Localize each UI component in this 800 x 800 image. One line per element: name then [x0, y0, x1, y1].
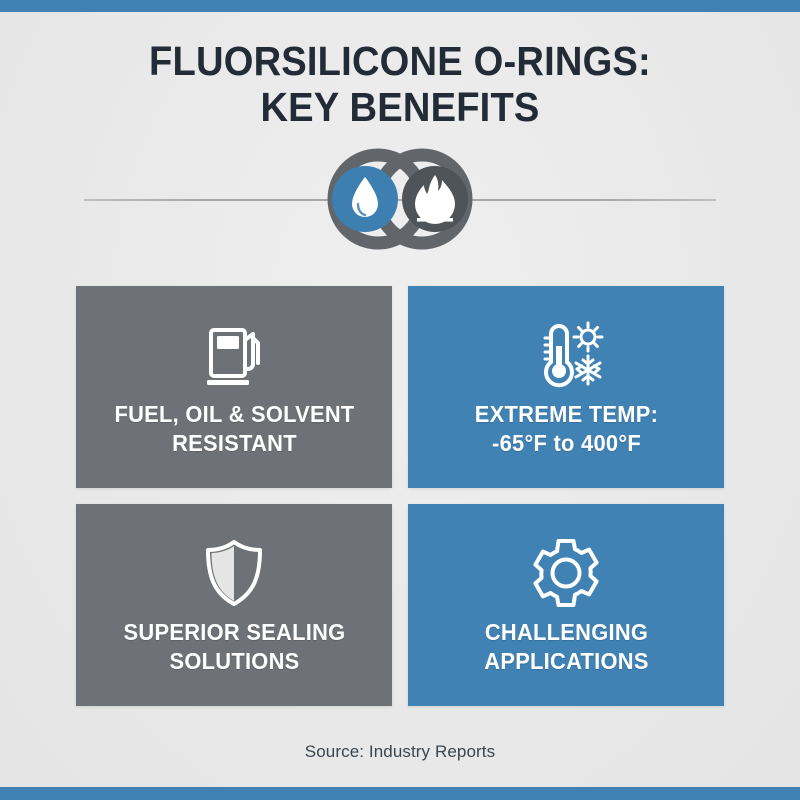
title-line-1: FLUORSILICONE O-RINGS: [28, 38, 772, 84]
title-line-2: KEY BENEFITS [28, 84, 772, 130]
bottom-accent-bar [0, 787, 800, 800]
benefit-card-fuel-oil-solvent-resistant[interactable]: FUEL, OIL & SOLVENT RESISTANT [76, 286, 392, 488]
benefit-card-superior-sealing-solutions[interactable]: SUPERIOR SEALING SOLUTIONS [76, 504, 392, 706]
benefit-card-label: EXTREME TEMP: -65°F to 400°F [431, 400, 702, 458]
o-ring-emblem [318, 142, 482, 256]
infographic-canvas: FLUORSILICONE O-RINGS: KEY BENEFITS [0, 0, 800, 800]
benefit-card-label: CHALLENGING APPLICATIONS [431, 618, 702, 676]
benefit-label-line-1: SUPERIOR SEALING [123, 619, 345, 645]
top-accent-bar [0, 0, 800, 12]
benefit-label-line-2: -65°F to 400°F [431, 429, 702, 458]
benefit-card-extreme-temp[interactable]: EXTREME TEMP: -65°F to 400°F [408, 286, 724, 488]
benefit-label-line-1: FUEL, OIL & SOLVENT [114, 401, 354, 427]
benefit-label-line-2: APPLICATIONS [431, 647, 702, 676]
benefit-label-line-2: SOLUTIONS [99, 647, 370, 676]
benefits-grid: FUEL, OIL & SOLVENT RESISTANT [76, 286, 724, 714]
thermometer-sun-snowflake-icon [526, 314, 606, 396]
benefit-label-line-1: CHALLENGING [484, 619, 647, 645]
flame-icon [402, 166, 468, 232]
fuel-pump-icon [197, 314, 271, 396]
water-drop-icon [332, 166, 398, 232]
page-title: FLUORSILICONE O-RINGS: KEY BENEFITS [0, 38, 800, 130]
gear-icon [528, 532, 604, 614]
benefit-label-line-2: RESISTANT [99, 429, 370, 458]
source-caption: Source: Industry Reports [0, 742, 800, 762]
shield-icon [198, 532, 270, 614]
benefit-card-challenging-applications[interactable]: CHALLENGING APPLICATIONS [408, 504, 724, 706]
benefit-label-line-1: EXTREME TEMP: [474, 401, 657, 427]
benefit-card-label: SUPERIOR SEALING SOLUTIONS [99, 618, 370, 676]
benefit-card-label: FUEL, OIL & SOLVENT RESISTANT [99, 400, 370, 458]
